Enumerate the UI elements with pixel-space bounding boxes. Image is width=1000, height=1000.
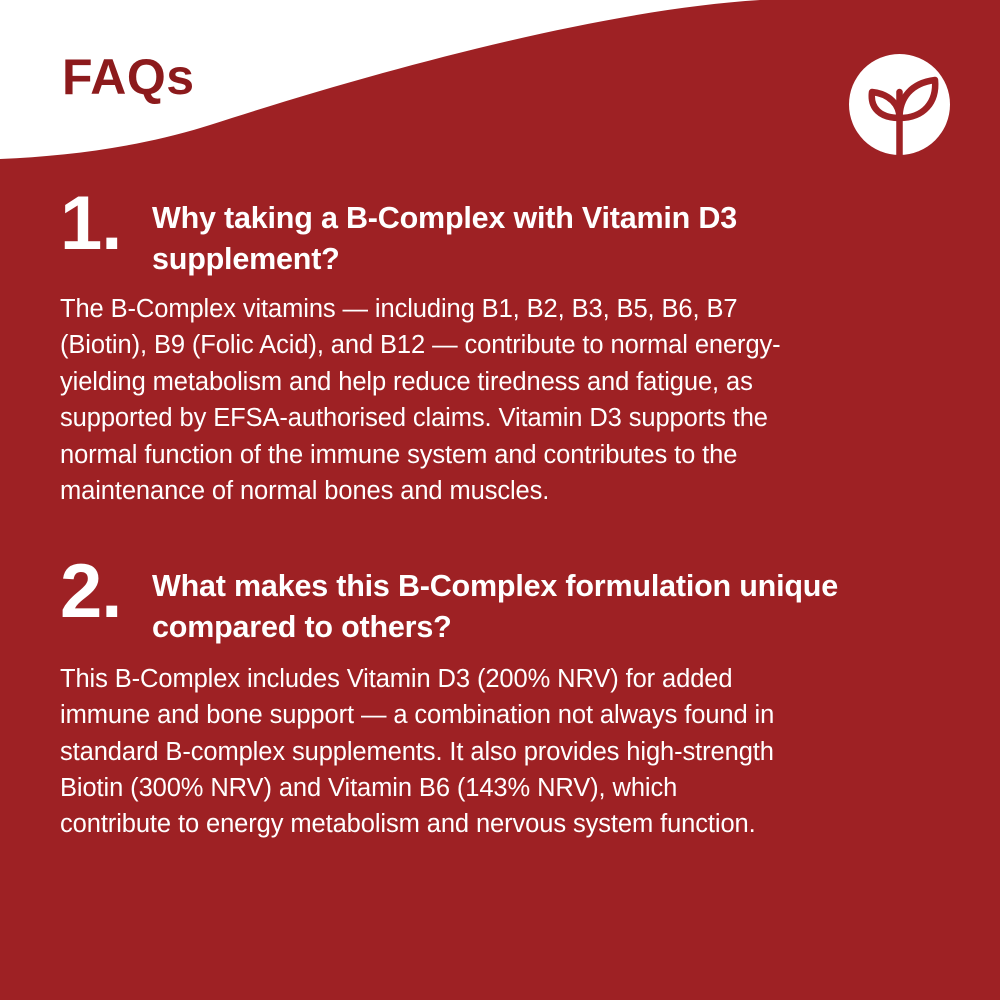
faq-page: FAQs 1. Why taking a B-Complex with Vita… [0,0,1000,1000]
faq-question: What makes this B-Complex formulation un… [152,556,940,649]
faq-heading-row: 1. Why taking a B-Complex with Vitamin D… [60,188,940,281]
faq-content: 1. Why taking a B-Complex with Vitamin D… [0,170,1000,843]
sprout-plant-logo-icon [845,50,960,165]
faq-number: 2. [60,556,152,628]
faq-question: Why taking a B-Complex with Vitamin D3 s… [152,188,912,281]
faq-number: 1. [60,188,152,260]
faq-item: 2. What makes this B-Complex formulation… [60,556,940,843]
faq-item: 1. Why taking a B-Complex with Vitamin D… [60,188,940,510]
page-title: FAQs [62,52,195,102]
faq-heading-row: 2. What makes this B-Complex formulation… [60,556,940,649]
faq-answer: The B-Complex vitamins — including B1, B… [60,291,820,510]
faq-answer: This B-Complex includes Vitamin D3 (200%… [60,661,780,843]
